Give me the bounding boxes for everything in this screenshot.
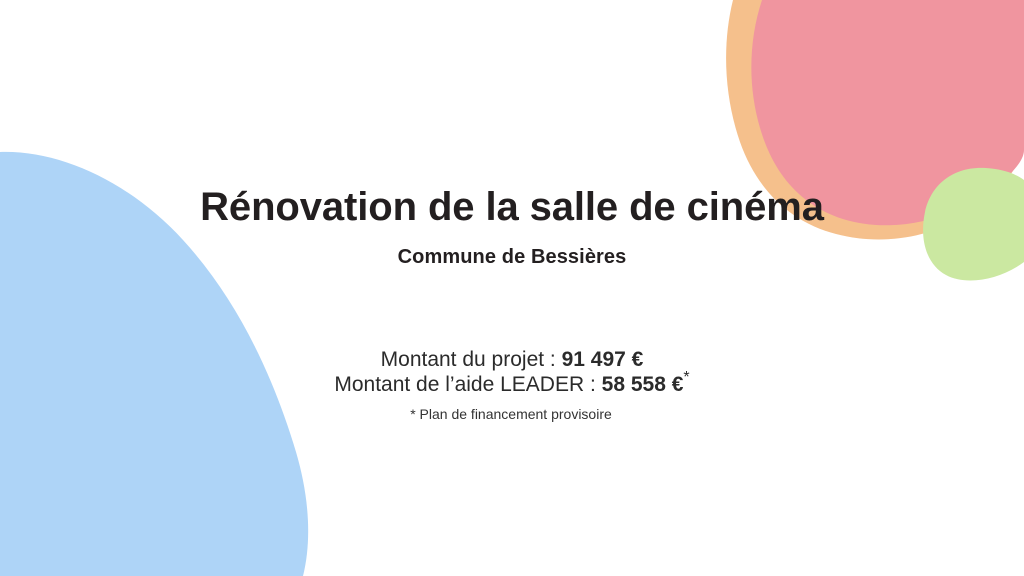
page-subtitle: Commune de Bessières [0,229,1024,268]
footnote-asterisk: * [683,369,689,386]
amount-line-leader: Montant de l’aide LEADER : 58 558 €* [0,372,1024,397]
slide-content: Rénovation de la salle de cinéma Commune… [0,0,1024,576]
amounts-block: Montant du projet : 91 497 € Montant de … [0,347,1024,423]
presentation-slide: Rénovation de la salle de cinéma Commune… [0,0,1024,576]
amount-label-leader: Montant de l’aide LEADER : [334,373,601,396]
footnote-text: * Plan de financement provisoire [0,397,1024,423]
amount-value-leader: 58 558 € [602,373,684,396]
amount-label-project: Montant du projet : [381,348,562,371]
title-block: Rénovation de la salle de cinéma Commune… [0,186,1024,268]
amount-line-project: Montant du projet : 91 497 € [0,347,1024,372]
amount-value-project: 91 497 € [562,348,644,371]
page-title: Rénovation de la salle de cinéma [0,186,1024,229]
